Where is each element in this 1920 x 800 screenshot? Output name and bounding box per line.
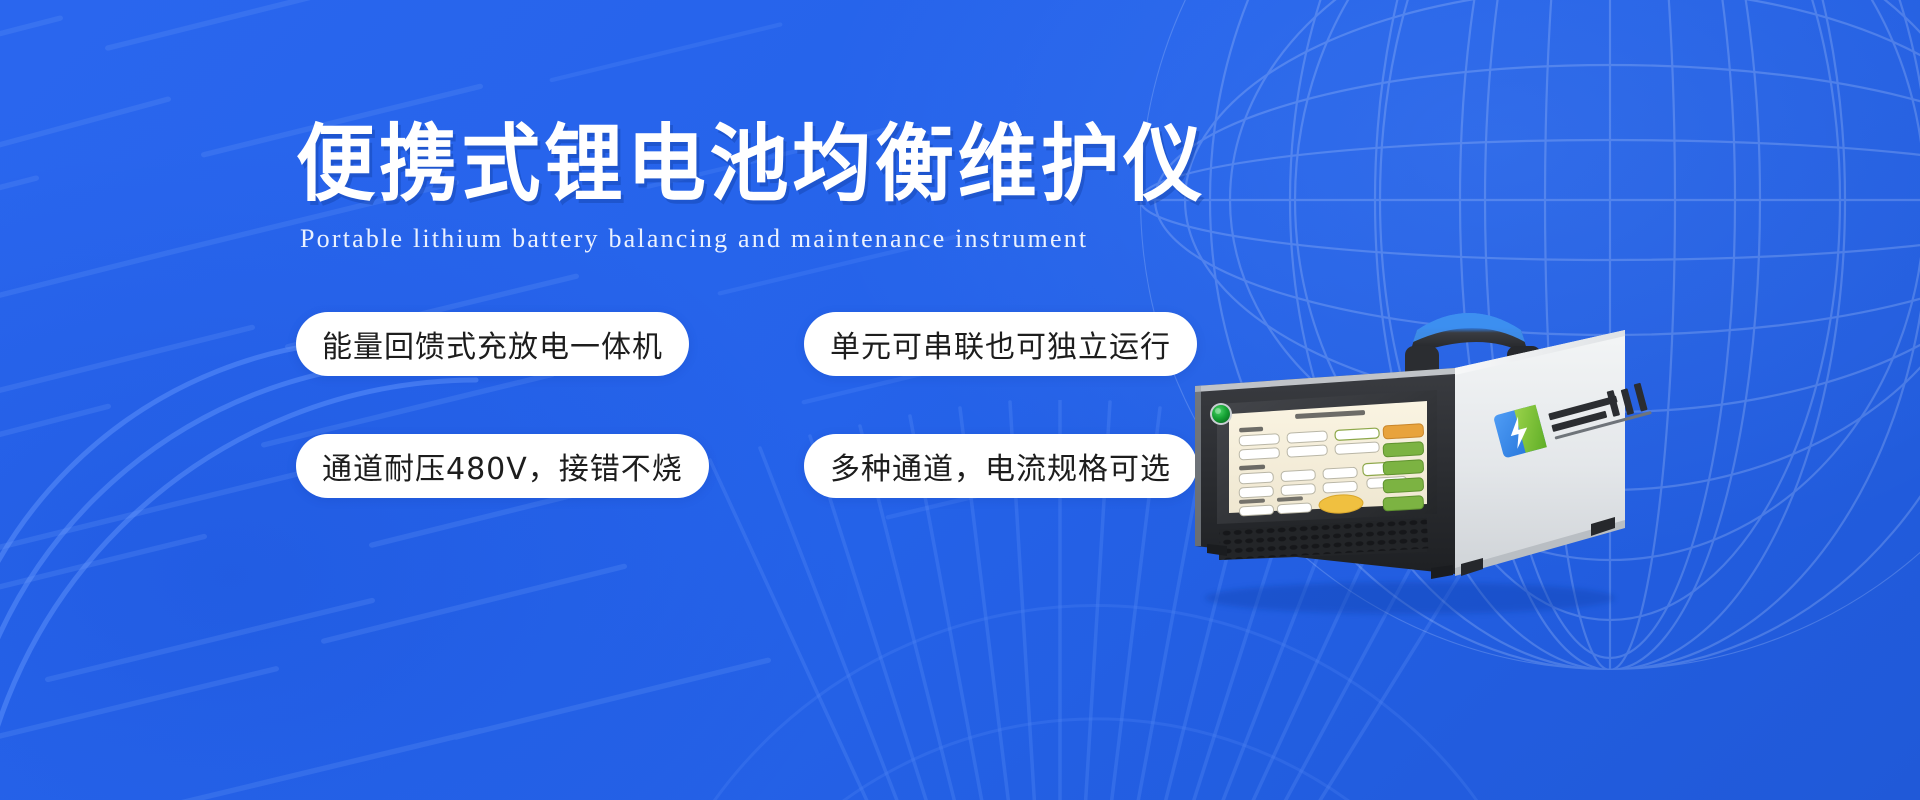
feature-pill: 通道耐压480V，接错不烧	[296, 434, 709, 498]
feature-pill: 能量回馈式充放电一体机	[296, 312, 689, 376]
feature-pill: 单元可串联也可独立运行	[804, 312, 1197, 376]
page-subtitle: Portable lithium battery balancing and m…	[300, 224, 1386, 254]
page-title: 便携式锂电池均衡维护仪	[296, 122, 1321, 206]
device-product-image	[1155, 268, 1655, 628]
promo-banner: 便携式锂电池均衡维护仪 Portable lithium battery bal…	[0, 0, 1920, 800]
feature-pill: 多种通道，电流规格可选	[804, 434, 1197, 498]
power-button-icon	[1210, 403, 1232, 425]
